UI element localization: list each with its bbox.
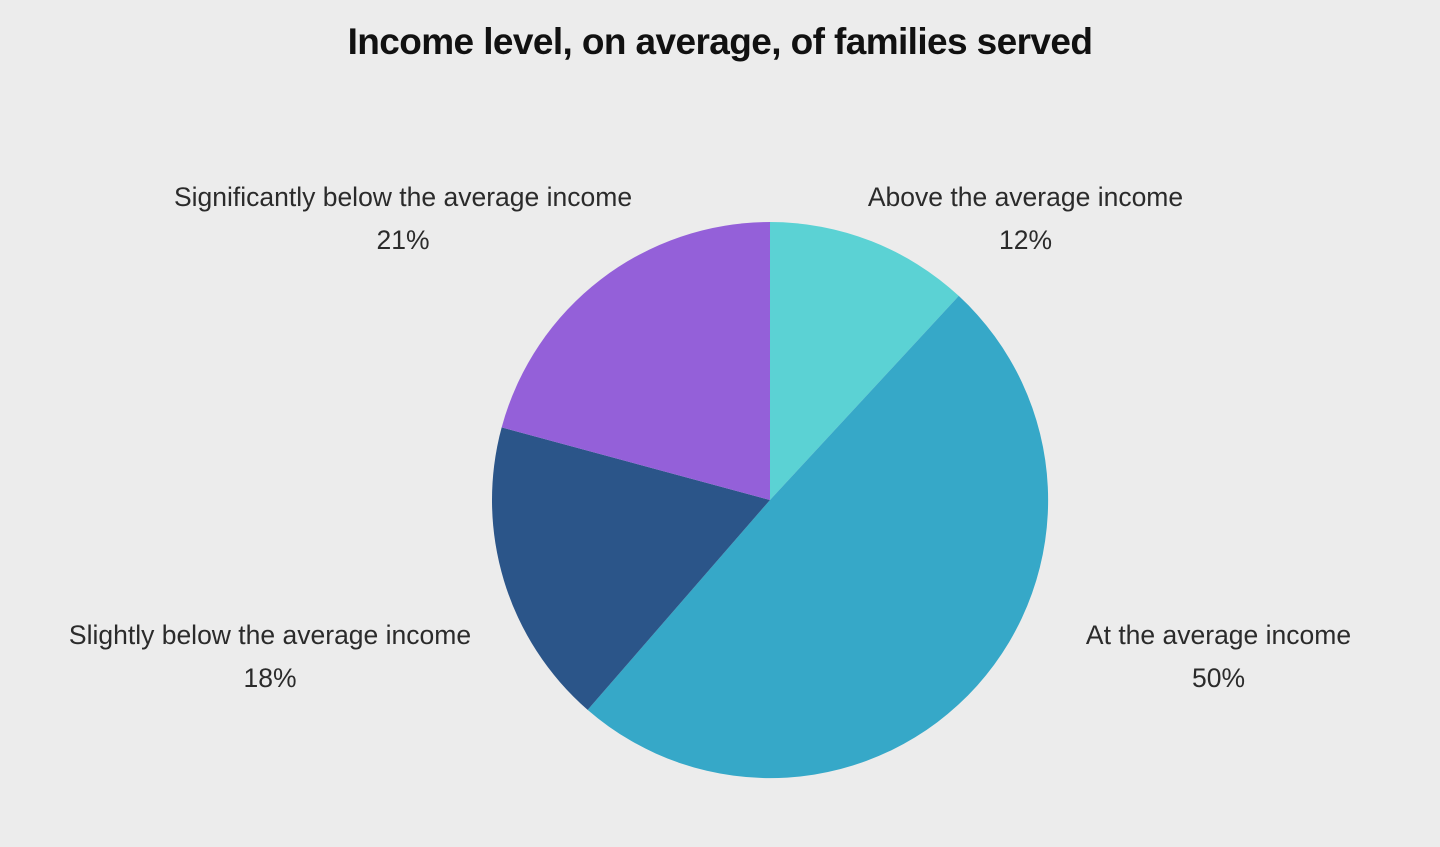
slice-label-value: 18% — [33, 657, 507, 700]
slice-label-text: At the average income — [1062, 614, 1375, 657]
pie-chart — [0, 0, 1440, 847]
slice-label-text: Significantly below the average income — [133, 176, 673, 219]
slice-label-value: 21% — [133, 219, 673, 262]
slice-label-value: 50% — [1062, 657, 1375, 700]
slice-label-at-the-average-income: At the average income 50% — [1062, 614, 1375, 700]
slice-label-value: 12% — [838, 219, 1213, 262]
chart-canvas: Income level, on average, of families se… — [0, 0, 1440, 847]
slice-label-text: Above the average income — [838, 176, 1213, 219]
slice-label-significantly-below-the-average-income: Significantly below the average income 2… — [133, 176, 673, 262]
slice-label-slightly-below-the-average-income: Slightly below the average income 18% — [33, 614, 507, 700]
slice-label-above-the-average-income: Above the average income 12% — [838, 176, 1213, 262]
slice-label-text: Slightly below the average income — [33, 614, 507, 657]
